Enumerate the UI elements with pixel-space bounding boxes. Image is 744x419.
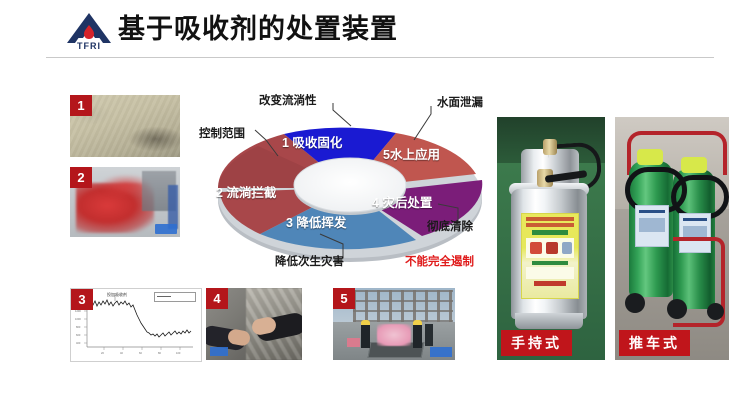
chart-legend [154,292,196,302]
photo-field-drill: 5 [333,288,455,360]
product-caption-trolley: 推车式 [619,330,690,356]
svg-text:800: 800 [76,325,81,329]
donut-diagram: 1 吸收固化 2 流淌拦截 3 降低挥发 4 灾后处置 5水上应用 [200,88,500,273]
header-divider [46,57,714,58]
photo-3-badge: 3 [71,289,93,310]
donut-segment-label-3[interactable]: 3 降低挥发 [286,212,346,231]
photo-5-badge: 5 [333,288,355,309]
svg-text:100: 100 [176,351,181,355]
valve-cap-left [637,149,663,165]
firefighter-1 [361,324,370,348]
photo-absorbent-surface: 1 [70,95,180,157]
photo-red-spill: 2 [70,167,180,237]
helmet-1 [361,320,370,325]
background-panel [168,185,178,229]
donut-segment-label-1[interactable]: 1 吸收固化 [282,132,342,151]
callout-warning: 不能完全遏制 [405,253,474,269]
product-label-left [635,205,669,247]
valve-back [543,139,557,155]
donut-segment-label-4[interactable]: 4 灾后处置 [372,192,432,211]
photo-sampling-hands: 4 [206,288,302,360]
product-handheld-extinguisher: 手持式 [497,117,605,360]
foam-cloud [377,324,411,346]
watermark [210,347,228,356]
product-caption-handheld: 手持式 [501,330,572,356]
svg-text:400: 400 [76,341,81,345]
page-title: 基于吸收剂的处置装置 [118,12,398,46]
photo-1-badge: 1 [70,95,92,116]
equipment-box [347,338,360,347]
svg-text:TFRI: TFRI [77,41,101,50]
tfri-logo-icon: TFRI [63,10,115,50]
firefighter-3 [425,324,433,346]
wheel-left [625,293,645,313]
helmet-2 [413,320,422,325]
product-label [521,213,579,299]
donut-svg [200,88,500,273]
firefighter-2 [413,324,422,348]
product-trolley-extinguisher: 推车式 [615,117,729,360]
callout-right: 彻底清除 [427,218,473,234]
donut-segment-label-2[interactable]: 2 流淌拦截 [216,182,276,201]
cylinder-base [515,313,583,329]
wheel-right [707,303,724,320]
photo-2-badge: 2 [70,167,92,188]
donut-segment-label-5[interactable]: 5水上应用 [383,144,440,163]
svg-text:1000: 1000 [75,317,81,321]
industrial-structure [353,290,453,322]
valve-cap-right [681,157,707,173]
callout-top-right: 水面泄漏 [437,94,483,110]
callout-top-left: 改变流淌性 [259,92,317,108]
photo-concentration-curve: 14001200 1000800 600400 2040 6080100 投加吸… [70,288,202,362]
slide-header: TFRI 基于吸收剂的处置装置 [0,0,744,58]
watermark [430,347,452,357]
callout-left: 控制范围 [199,125,245,141]
wheel-middle [667,299,687,319]
chart-annotation: 投加吸收剂 [107,292,127,298]
slide: TFRI 基于吸收剂的处置装置 1 2 [0,0,744,419]
watermark [155,224,177,234]
callout-bottom: 降低次生灾害 [275,253,344,269]
photo-4-badge: 4 [206,288,228,309]
svg-text:600: 600 [76,333,81,337]
